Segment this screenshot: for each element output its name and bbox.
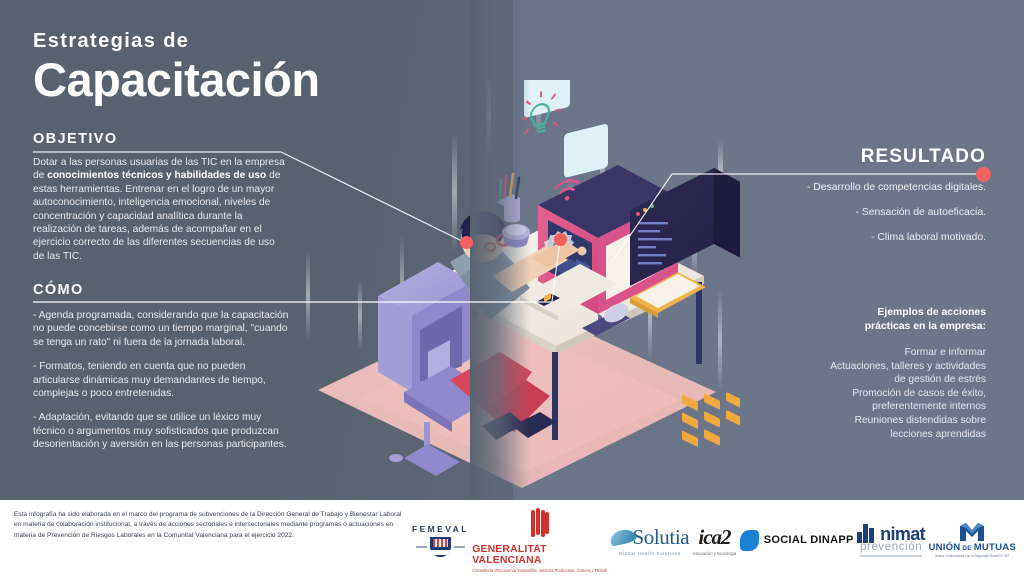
footer-disclaimer: Esta infografía ha sido elaborada en el … — [14, 510, 406, 541]
logo-gv-line-2: VALENCIANA — [472, 555, 607, 566]
section-objetivo: OBJETIVO Dotar a las personas usuarias d… — [33, 131, 285, 263]
page-header: Estrategias de Capacitación — [33, 30, 320, 109]
objetivo-body: Dotar a las personas usuarias de las TIC… — [33, 156, 285, 263]
como-item: - Agenda programada, considerando que la… — [33, 309, 291, 349]
ejemplos-line: preferentemente internos — [716, 400, 986, 414]
logo-union-de-mutuas: UNIÓN DE MUTUAS Mutua Colaboradora con l… — [928, 522, 1015, 558]
como-item: - Adaptación, evitando que se utilice un… — [33, 411, 291, 451]
ejemplos-line: Reuniones distendidas sobre — [716, 414, 986, 428]
ejemplos-line: Formar e informar — [716, 346, 986, 360]
connector-dot-como — [554, 233, 567, 246]
ejemplos-list: Formar e informar Actuaciones, talleres … — [716, 346, 986, 441]
logo-social-dinapp: SOCIAL DINAPP — [740, 530, 854, 551]
logo-um-text-de: DE — [962, 545, 971, 552]
infographic-canvas: Estrategias de Capacitación OBJETIVO Dot… — [0, 0, 1024, 580]
como-body: - Agenda programada, considerando que la… — [33, 309, 291, 452]
logo-um-text-2: MUTUAS — [974, 542, 1016, 553]
resultado-item: - Desarrollo de competencias digitales. — [706, 182, 986, 193]
footer: Esta infografía ha sido elaborada en el … — [0, 500, 1024, 580]
logo-ica2: ica2 innovación y tecnología — [693, 525, 737, 556]
logo-femeval: FEMEVAL — [412, 524, 469, 557]
page-title: Capacitación — [33, 51, 320, 109]
ejemplos-line: Actuaciones, talleres y actividades — [716, 360, 986, 374]
senyera-icon — [531, 507, 548, 540]
resultado-heading: RESULTADO — [706, 146, 986, 168]
logo-gv-sub: Conselleria d'Economia Sostenible, Secto… — [472, 568, 607, 573]
resultado-item: - Clima laboral motivado. — [706, 232, 986, 243]
logo-solutia-sub: Global Health Solutions — [619, 551, 681, 556]
como-item: - Formatos, teniendo en cuenta que no pu… — [33, 360, 291, 400]
resultado-list: - Desarrollo de competencias digitales. … — [706, 182, 986, 243]
logo-gv-line-1: GENERALITAT — [472, 544, 607, 555]
header-subtitle: Estrategias de — [33, 30, 320, 53]
objetivo-text-2: de estas herramientas. Entrenar en el lo… — [33, 170, 280, 261]
ejemplos-title-line-1: Ejemplos de acciones — [716, 306, 986, 320]
section-ejemplos: Ejemplos de acciones prácticas en la emp… — [716, 306, 986, 441]
nimat-rule — [860, 555, 922, 557]
ejemplos-title-line-2: prácticas en la empresa: — [716, 320, 986, 334]
logo-generalitat-valenciana: GENERALITAT VALENCIANA Conselleria d'Eco… — [472, 507, 607, 573]
logo-ica2-sub: innovación y tecnología — [693, 551, 737, 556]
logo-solutia-text: Solutia — [632, 525, 689, 550]
resultado-item: - Sensación de autoeficacia. — [706, 207, 986, 218]
logo-ica2-text: ica2 — [698, 525, 730, 550]
logo-um-sub: Mutua Colaboradora con la Seguridad Soci… — [935, 554, 1009, 558]
connector-dot-objetivo — [460, 236, 473, 249]
objetivo-heading: OBJETIVO — [33, 131, 285, 147]
logo-um-text-1: UNIÓN — [928, 542, 960, 553]
ejemplos-line: de gestión de estrés — [716, 373, 986, 387]
union-mutuas-m-icon — [958, 522, 986, 542]
como-heading: CÓMO — [33, 282, 291, 298]
femeval-mark-icon — [416, 537, 465, 557]
logo-social-dinapp-text: SOCIAL DINAPP — [764, 534, 854, 546]
objetivo-text-bold: conocimientos técnicos y habilidades de … — [47, 170, 266, 181]
logo-nimat-prevencion: nimat prevención — [857, 524, 925, 557]
nimat-bars-icon — [857, 524, 879, 543]
ejemplos-title: Ejemplos de acciones prácticas en la emp… — [716, 306, 986, 333]
section-como: CÓMO - Agenda programada, considerando q… — [33, 282, 291, 452]
logo-solutia: Solutia Global Health Solutions — [610, 525, 689, 556]
ejemplos-line: Promoción de casos de éxito, — [716, 387, 986, 401]
logo-femeval-text: FEMEVAL — [412, 524, 469, 534]
ejemplos-line: lecciones aprendidas — [716, 428, 986, 442]
footer-logo-strip: FEMEVAL GENERALITAT VALENCIANA Conseller… — [412, 506, 1016, 574]
section-resultado: RESULTADO - Desarrollo de competencias d… — [706, 146, 986, 257]
dinapp-blob-icon — [740, 530, 759, 551]
